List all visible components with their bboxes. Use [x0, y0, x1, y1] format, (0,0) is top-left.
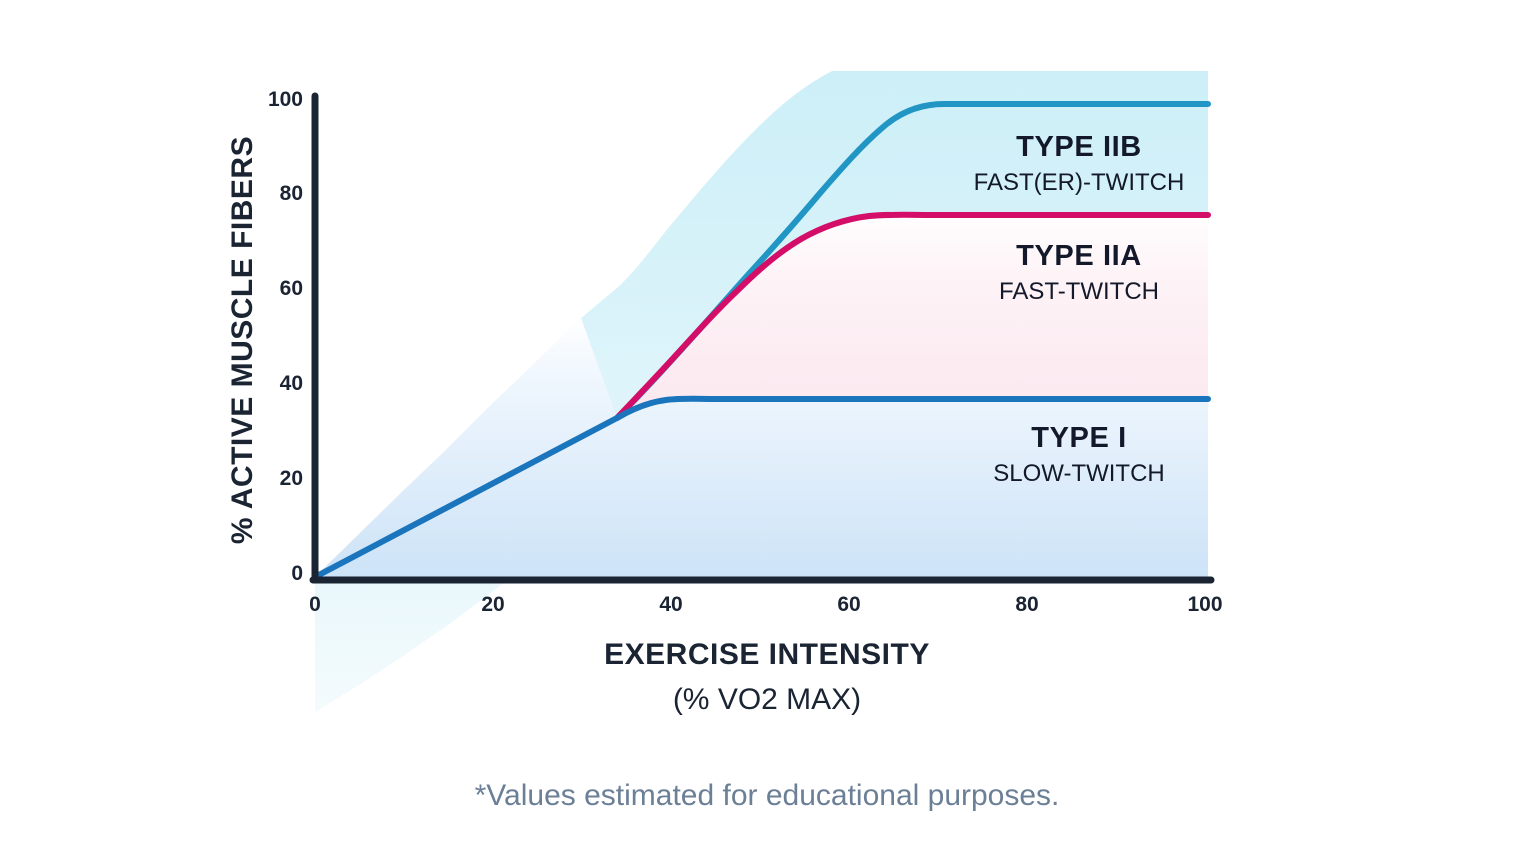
x-tick-80: 80	[1015, 593, 1038, 616]
label-type-iia-title: TYPE IIA	[1016, 240, 1142, 272]
footnote-text: *Values estimated for educational purpos…	[475, 779, 1060, 812]
y-tick-60: 60	[280, 277, 303, 300]
y-tick-0: 0	[291, 562, 303, 585]
x-axis-subtitle: (% VO2 MAX)	[673, 683, 861, 716]
y-tick-labels: 100 80 60 40 20 0	[268, 88, 303, 585]
figure-canvas: 100 80 60 40 20 0 0 20 40 60 80 100 % AC…	[0, 0, 1536, 864]
label-type-iib-subtitle: FAST(ER)-TWITCH	[974, 169, 1185, 196]
x-tick-40: 40	[659, 593, 682, 616]
muscle-fiber-recruitment-chart: 100 80 60 40 20 0 0 20 40 60 80 100 % AC…	[0, 0, 1536, 864]
x-tick-20: 20	[481, 593, 504, 616]
label-type-iia-subtitle: FAST-TWITCH	[999, 278, 1159, 305]
y-tick-100: 100	[268, 88, 303, 111]
x-axis-title: EXERCISE INTENSITY	[604, 638, 930, 671]
y-tick-20: 20	[280, 467, 303, 490]
y-tick-80: 80	[280, 182, 303, 205]
area-fills	[315, 71, 1208, 712]
y-tick-40: 40	[280, 372, 303, 395]
x-tick-60: 60	[837, 593, 860, 616]
x-tick-0: 0	[309, 593, 321, 616]
label-type-i-title: TYPE I	[1031, 422, 1126, 454]
x-tick-100: 100	[1187, 593, 1222, 616]
label-type-i-subtitle: SLOW-TWITCH	[993, 460, 1165, 487]
label-type-iib-title: TYPE IIB	[1016, 131, 1142, 163]
y-axis-title: % ACTIVE MUSCLE FIBERS	[226, 136, 259, 544]
